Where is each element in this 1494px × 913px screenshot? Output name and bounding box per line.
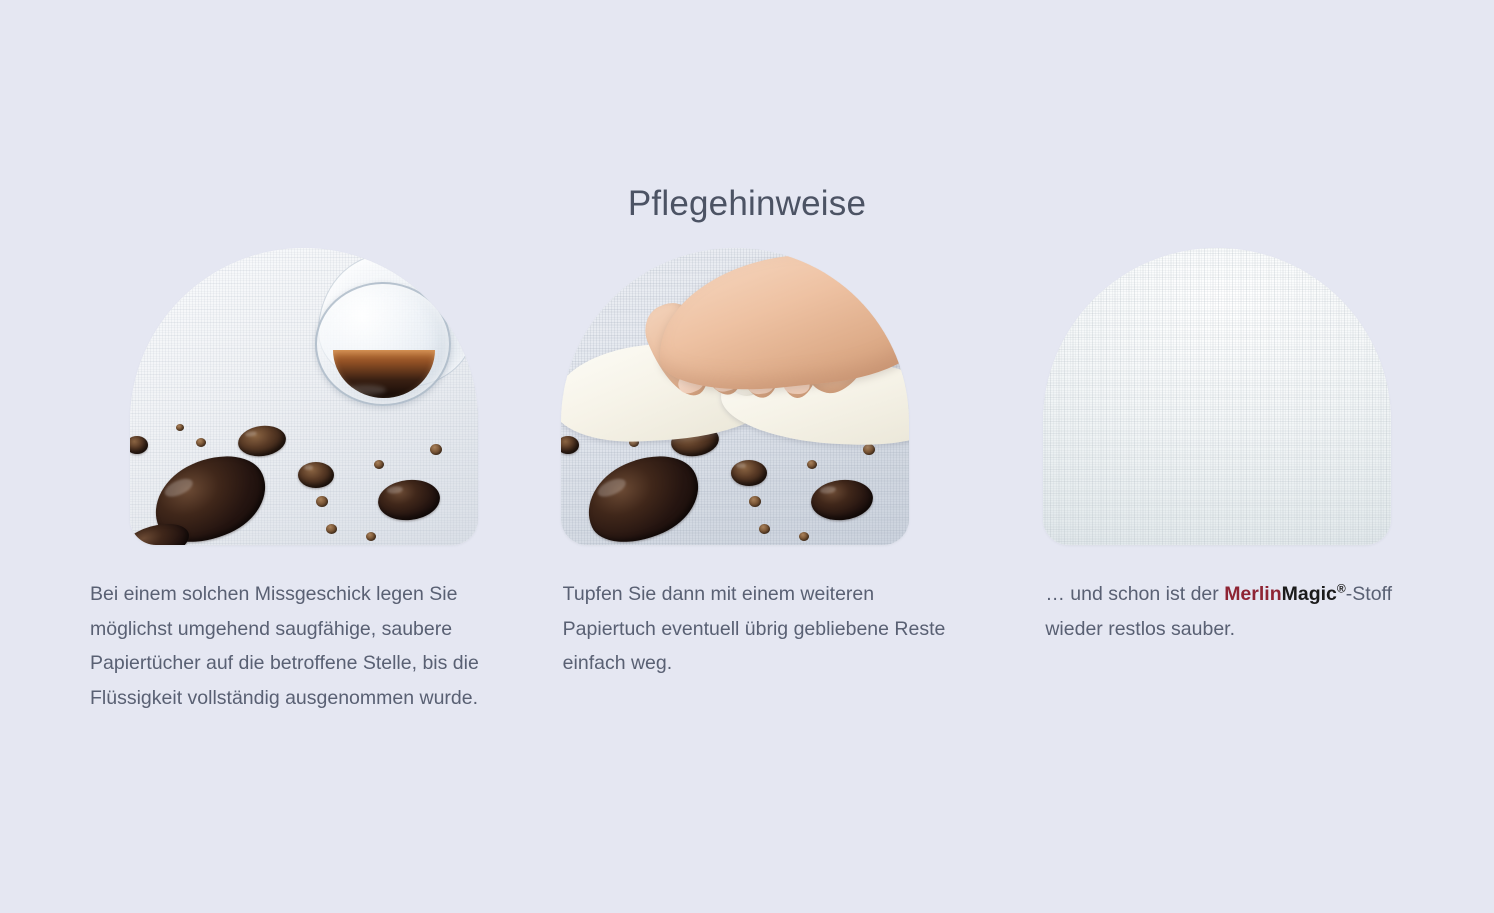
stain-droplet <box>176 424 184 431</box>
step-1: Bei einem solchen Missgeschick legen Sie… <box>88 248 539 735</box>
stain-droplet <box>759 524 770 534</box>
steps-container: Bei einem solchen Missgeschick legen Sie… <box>0 248 1494 735</box>
step-3: … und schon ist der MerlinMagic®-Stoff w… <box>1043 248 1494 735</box>
step-3-image-inner <box>1043 248 1391 545</box>
step-3-caption: … und schon ist der MerlinMagic®-Stoff w… <box>1045 577 1450 646</box>
fabric-texture-clean <box>1043 248 1391 545</box>
stain-droplet <box>316 496 328 507</box>
step-2-image <box>561 248 909 545</box>
stain-droplet <box>863 444 875 455</box>
step-2-caption: Tupfen Sie dann mit einem weiteren Papie… <box>563 577 965 681</box>
page-title: Pflegehinweise <box>0 183 1494 225</box>
stain-droplet <box>366 532 376 541</box>
stain-droplet <box>326 524 337 534</box>
care-instructions-page: Pflegehinweise <box>0 0 1494 913</box>
stain-droplet <box>807 460 817 469</box>
stain-droplet <box>749 496 761 507</box>
glass-rim-icon <box>315 282 451 406</box>
stain <box>298 462 334 488</box>
glass-liquid <box>333 350 435 398</box>
brand-part-magic: Magic <box>1282 583 1337 605</box>
stain-droplet <box>799 532 809 541</box>
step-1-image-inner <box>130 248 478 545</box>
registered-trademark-icon: ® <box>1337 582 1346 596</box>
step-2: Tupfen Sie dann mit einem weiteren Papie… <box>561 248 1012 735</box>
stain-droplet <box>374 460 384 469</box>
step-1-caption: Bei einem solchen Missgeschick legen Sie… <box>90 577 488 716</box>
brand-part-merlin: Merlin <box>1224 583 1281 605</box>
stain-droplet <box>196 438 206 447</box>
stain-droplet <box>430 444 442 455</box>
step-1-image <box>130 248 478 545</box>
step-3-image <box>1043 248 1391 545</box>
step-3-caption-prefix: … und schon ist der <box>1045 583 1224 605</box>
stain <box>731 460 767 486</box>
step-2-image-inner <box>561 248 909 545</box>
brand-merlinmagic: MerlinMagic® <box>1224 583 1346 605</box>
